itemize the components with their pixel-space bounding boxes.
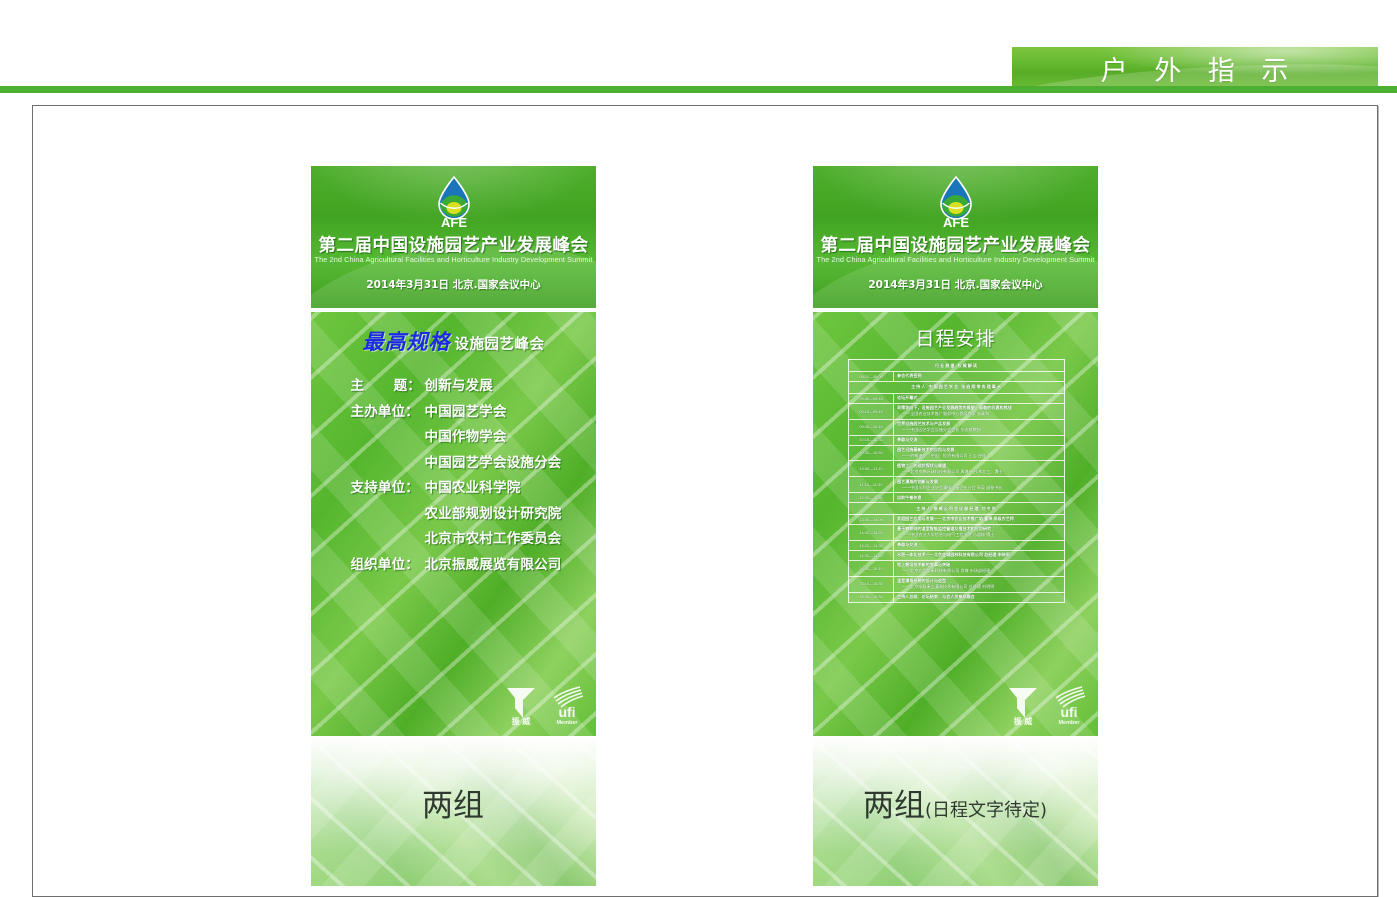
schedule-topic-main: 自助午餐休息 <box>897 495 922 500</box>
schedule-topic-main: 园艺设施最新技术的应用与发展 <box>897 447 954 452</box>
banner-body-right: 日程安排 行业展望 权威解读08:20—09:00参会代表签到主持人 中国园艺学… <box>813 312 1098 736</box>
schedule-topic-main: 基于物联网的温室智能监控管理及植技术和应用研究 <box>897 526 991 531</box>
banner-info-value: 北京市农村工作委员会 <box>425 527 562 547</box>
schedule-topic-main: 主持人总结、论坛结束、与会人员参观展会 <box>897 594 975 599</box>
schedule-topic: 论坛开幕式 <box>894 394 1064 403</box>
banner-subtitle: The 2nd China Agricultural Facilities an… <box>311 255 596 264</box>
schedule-topic-main: 茶歇与交流 <box>897 437 917 442</box>
schedule-topic-main: 行业展望 权威解读 <box>935 363 978 368</box>
schedule-time: 10:30—10:50 <box>849 446 894 461</box>
schedule-row: 10:50—11:10植物工厂的现状探状与展望——北京京鹏环球科技有限公司 周增… <box>849 461 1064 477</box>
caption-right: 两组(日程文字待定) <box>745 780 1165 825</box>
schedule-topic-main: 茶歇与交流 <box>897 542 917 547</box>
schedule-topic-main: 主持人 振威公司会议部经理 刘冬东 <box>916 506 997 511</box>
schedule-topic: 行业展望 权威解读 <box>849 360 1064 371</box>
schedule-topic-speaker: ——中国水利企业协会灌排设备企业分会 周英 副秘书长 <box>897 485 1061 491</box>
banner-date-venue: 2014年3月31日 北京.国家会议中心 <box>813 277 1098 292</box>
schedule-row: 15:30—16:30主持人总结、论坛结束、与会人员参观展会 <box>849 593 1064 603</box>
schedule-time: 09:00—09:15 <box>849 394 894 403</box>
banner-info-row: 农业部规划设计研究院 <box>311 502 596 522</box>
banner-info-label: 主办单位： <box>351 400 425 420</box>
schedule-time: 14:30—14:50 <box>849 551 894 560</box>
slogan-rest-text: 设施园艺峰会 <box>455 337 545 353</box>
banner-title: 第二届中国设施园艺产业发展峰会 <box>813 232 1098 257</box>
afe-logo-icon: AFE <box>936 175 976 231</box>
schedule-time: 08:20—09:00 <box>849 372 894 381</box>
schedule-row: 主持人 振威公司会议部经理 刘冬东 <box>849 503 1064 515</box>
schedule-row: 09:00—09:15论坛开幕式 <box>849 394 1064 404</box>
schedule-time: 10:50—11:10 <box>849 461 894 476</box>
banner-info-value: 中国园艺学会 <box>425 400 507 420</box>
banner-info-row: 主 题：创新与发展 <box>311 374 596 394</box>
schedule-topic-speaker: ——中国园艺学会设施分会会长 张志斌教授 <box>897 427 1061 433</box>
schedule-table: 行业展望 权威解读08:20—09:00参会代表签到主持人 中国园艺学会 张启翔… <box>848 359 1065 603</box>
ufi-logo-icon: ufi Member <box>548 684 586 726</box>
banner-title: 第二届中国设施园艺产业发展峰会 <box>311 232 596 257</box>
schedule-row: 行业展望 权威解读 <box>849 360 1064 372</box>
banner-info-value: 中国农业科学院 <box>425 476 521 496</box>
banner-info-row-inner: 主办单位：中国园艺学会 <box>351 400 557 420</box>
zhenwei-logo-icon: 振 威 <box>1005 684 1041 726</box>
ufi-logo-icon: ufi Member <box>1050 684 1088 726</box>
schedule-time: 10:15—10:30 <box>849 436 894 445</box>
svg-text:AFE: AFE <box>943 215 969 230</box>
schedule-topic: 茶歇与交流 <box>894 541 1064 550</box>
schedule-topic-speaker: ——中国农业大学信息与电气工程学院 马道坤 博士 <box>897 532 1061 538</box>
svg-text:振 威: 振 威 <box>512 716 531 726</box>
svg-text:振 威: 振 威 <box>1014 716 1033 726</box>
schedule-topic-main: 世界设施园艺技术与产品发展 <box>897 421 950 426</box>
schedule-topic: 参会代表签到 <box>894 372 1064 381</box>
schedule-row: 12:00—13:30自助午餐休息 <box>849 493 1064 503</box>
schedule-topic: 主持人 振威公司会议部经理 刘冬东 <box>849 503 1064 514</box>
banner-info-label <box>351 527 425 547</box>
banner-footer-logos: 振 威 ufi Member <box>1005 684 1088 726</box>
schedule-topic: 水肥一体化技术——北京金城园林科技有限公司 总经理 申晓军 <box>894 551 1064 560</box>
schedule-time: 14:50—15:10 <box>849 561 894 576</box>
banner-info-row-inner: 组织单位：北京振威展览有限公司 <box>351 553 557 573</box>
banner-info-list: 主 题：创新与发展主办单位：中国园艺学会中国作物学会中国园艺学会设施分会支持单位… <box>311 374 596 578</box>
schedule-topic: 基于物联网的温室智能监控管理及植技术和应用研究——中国农业大学信息与电气工程学院… <box>894 525 1064 540</box>
banner-info-value: 北京振威展览有限公司 <box>425 553 562 573</box>
banner-info-value: 创新与发展 <box>425 374 494 394</box>
svg-text:Member: Member <box>1058 720 1080 726</box>
banner-info-row-inner: 北京市农村工作委员会 <box>351 527 557 547</box>
schedule-topic: 世界设施园艺技术与产品发展——中国园艺学会设施分会会长 张志斌教授 <box>894 420 1064 435</box>
banner-body-left: 最高规格设施园艺峰会 主 题：创新与发展主办单位：中国园艺学会中国作物学会中国园… <box>311 312 596 736</box>
schedule-topic-main: 政策导向下，设施园艺产业发展趋势的展望、面临的机遇和挑战 <box>897 405 1012 410</box>
caption-right-main: 两组 <box>863 788 925 824</box>
schedule-topic-main: 主持人 中国园艺学会 张启翔常务理事长 <box>911 384 1002 389</box>
zhenwei-logo-icon: 振 威 <box>503 684 539 726</box>
schedule-topic: 园艺设施最新技术的应用与发展——约翰迪尔（中国）投资有限公司 王吉 经理 <box>894 446 1064 461</box>
schedule-topic-main: 园艺灌溉的创新与发展 <box>897 479 938 484</box>
banner-info-row-inner: 中国园艺学会设施分会 <box>351 451 557 471</box>
rollup-banner-right[interactable]: AFE 第二届中国设施园艺产业发展峰会 The 2nd China Agricu… <box>813 166 1098 736</box>
schedule-time: 14:00—14:20 <box>849 525 894 540</box>
banner-info-value: 中国园艺学会设施分会 <box>425 451 562 471</box>
schedule-row: 主持人 中国园艺学会 张启翔常务理事长 <box>849 382 1064 394</box>
banner-info-row-inner: 中国作物学会 <box>351 425 557 445</box>
schedule-row: 14:20—14:30茶歇与交流 <box>849 541 1064 551</box>
schedule-time: 11:10—11:30 <box>849 477 894 492</box>
banner-unit-right[interactable]: AFE 第二届中国设施园艺产业发展峰会 The 2nd China Agricu… <box>813 166 1098 886</box>
schedule-row: 10:15—10:30茶歇与交流 <box>849 436 1064 446</box>
banner-info-value: 中国作物学会 <box>425 425 507 445</box>
schedule-topic-main: 植物工厂的现状探状与展望 <box>897 463 946 468</box>
banner-info-label: 组织单位： <box>351 553 425 573</box>
rollup-banner-left[interactable]: AFE 第二届中国设施园艺产业发展峰会 The 2nd China Agricu… <box>311 166 596 736</box>
caption-left-main: 两组 <box>422 788 484 824</box>
schedule-topic-speaker: ——北京方圆华禾科技有限公司 肖敬 市场部经理 <box>897 568 1061 574</box>
slogan-accent-text: 最高规格 <box>363 330 451 354</box>
banner-info-label <box>351 502 425 522</box>
schedule-time: 15:30—16:30 <box>849 593 894 602</box>
schedule-topic: 园艺灌溉的创新与发展——中国水利企业协会灌排设备企业分会 周英 副秘书长 <box>894 477 1064 492</box>
banner-info-row: 北京市农村工作委员会 <box>311 527 596 547</box>
banner-subtitle: The 2nd China Agricultural Facilities an… <box>813 255 1098 264</box>
svg-text:ufi: ufi <box>558 704 575 720</box>
header-tab-label: 户 外 指 示 <box>1012 47 1378 89</box>
schedule-topic-speaker: ——北京水科禾立灌溉技术有限公司 总经理 刘明明 <box>897 584 1061 590</box>
schedule-row: 14:30—14:50水肥一体化技术——北京金城园林科技有限公司 总经理 申晓军 <box>849 551 1064 561</box>
schedule-topic: 家庭园艺应用与发展——北京市农业技术推广站 董坤 高级农艺师 <box>894 515 1064 524</box>
schedule-topic: 植物工厂的现状探状与展望——北京京鹏环球科技有限公司 周增产 技术总工、博士 <box>894 461 1064 476</box>
banner-footer-logos: 振 威 ufi Member <box>503 684 586 726</box>
banner-info-label <box>351 451 425 471</box>
schedule-topic-main: 水肥一体化技术——北京金城园林科技有限公司 总经理 申晓军 <box>897 552 1010 557</box>
banner-info-row-inner: 农业部规划设计研究院 <box>351 502 557 522</box>
banner-info-label: 主 题： <box>351 374 425 394</box>
svg-text:ufi: ufi <box>1060 704 1077 720</box>
afe-logo-icon: AFE <box>434 175 474 231</box>
banner-date-venue: 2014年3月31日 北京.国家会议中心 <box>311 277 596 292</box>
schedule-time: 13:30—14:00 <box>849 515 894 524</box>
banner-info-label: 支持单位： <box>351 476 425 496</box>
banner-info-row: 支持单位：中国农业科学院 <box>311 476 596 496</box>
schedule-topic-main: 温室灌溉系统的设计与选型 <box>897 578 946 583</box>
schedule-time: 15:10—15:30 <box>849 577 894 592</box>
schedule-row: 08:20—09:00参会代表签到 <box>849 372 1064 382</box>
banner-info-row: 中国园艺学会设施分会 <box>311 451 596 471</box>
schedule-topic: 温室灌溉系统的设计与选型——北京水科禾立灌溉技术有限公司 总经理 刘明明 <box>894 577 1064 592</box>
banner-info-label <box>351 425 425 445</box>
banner-info-value: 农业部规划设计研究院 <box>425 502 562 522</box>
content-frame: AFE 第二届中国设施园艺产业发展峰会 The 2nd China Agricu… <box>32 105 1378 897</box>
schedule-time: 09:15—09:45 <box>849 404 894 419</box>
schedule-row: 14:00—14:20基于物联网的温室智能监控管理及植技术和应用研究——中国农业… <box>849 525 1064 541</box>
caption-right-note: (日程文字待定) <box>925 800 1047 821</box>
banner-info-row: 中国作物学会 <box>311 425 596 445</box>
svg-text:Member: Member <box>556 720 578 726</box>
schedule-time: 14:20—14:30 <box>849 541 894 550</box>
banner-info-row: 主办单位：中国园艺学会 <box>311 400 596 420</box>
banner-unit-left[interactable]: AFE 第二届中国设施园艺产业发展峰会 The 2nd China Agricu… <box>311 166 596 886</box>
schedule-topic: 地上栽培技术新的变革与突破——北京方圆华禾科技有限公司 肖敬 市场部经理 <box>894 561 1064 576</box>
schedule-topic-main: 论坛开幕式 <box>897 395 917 400</box>
banner-header-block: AFE 第二届中国设施园艺产业发展峰会 The 2nd China Agricu… <box>311 166 596 308</box>
schedule-topic: 主持人 中国园艺学会 张启翔常务理事长 <box>849 382 1064 393</box>
schedule-row: 09:15—09:45政策导向下，设施园艺产业发展趋势的展望、面临的机遇和挑战—… <box>849 404 1064 420</box>
schedule-topic-main: 家庭园艺应用与发展——北京市农业技术推广站 董坤 高级农艺师 <box>897 516 1014 521</box>
schedule-topic: 主持人总结、论坛结束、与会人员参观展会 <box>894 593 1064 602</box>
schedule-topic-main: 地上栽培技术新的变革与突破 <box>897 562 950 567</box>
banner-info-row-inner: 主 题：创新与发展 <box>351 374 557 394</box>
schedule-topic: 政策导向下，设施园艺产业发展趋势的展望、面临的机遇和挑战——全国农业技术推广服务… <box>894 404 1064 419</box>
schedule-topic-speaker: ——约翰迪尔（中国）投资有限公司 王吉 经理 <box>897 453 1061 459</box>
schedule-topic-main: 参会代表签到 <box>897 373 922 378</box>
schedule-row: 10:30—10:50园艺设施最新技术的应用与发展——约翰迪尔（中国）投资有限公… <box>849 446 1064 462</box>
banner-info-row: 组织单位：北京振威展览有限公司 <box>311 553 596 573</box>
caption-left: 两组 <box>243 780 663 825</box>
schedule-row: 09:45—10:15世界设施园艺技术与产品发展——中国园艺学会设施分会会长 张… <box>849 420 1064 436</box>
schedule-topic-speaker: ——全国农业技术推广服务中心首席专家 张真和 <box>897 411 1061 417</box>
banner-info-row-inner: 支持单位：中国农业科学院 <box>351 476 557 496</box>
schedule-topic-speaker: ——北京京鹏环球科技有限公司 周增产 技术总工、博士 <box>897 469 1061 475</box>
schedule-time: 12:00—13:30 <box>849 493 894 502</box>
schedule-title: 日程安排 <box>813 324 1098 351</box>
svg-text:AFE: AFE <box>441 215 467 230</box>
schedule-row: 15:10—15:30温室灌溉系统的设计与选型——北京水科禾立灌溉技术有限公司 … <box>849 577 1064 593</box>
schedule-topic: 茶歇与交流 <box>894 436 1064 445</box>
header-tab: 户 外 指 示 <box>1012 47 1378 89</box>
schedule-row: 14:50—15:10地上栽培技术新的变革与突破——北京方圆华禾科技有限公司 肖… <box>849 561 1064 577</box>
schedule-topic: 自助午餐休息 <box>894 493 1064 502</box>
banner-slogan: 最高规格设施园艺峰会 <box>311 326 596 356</box>
header-divider-rule-end <box>1386 86 1397 93</box>
schedule-row: 11:10—11:30园艺灌溉的创新与发展——中国水利企业协会灌排设备企业分会 … <box>849 477 1064 493</box>
schedule-time: 09:45—10:15 <box>849 420 894 435</box>
schedule-row: 13:30—14:00家庭园艺应用与发展——北京市农业技术推广站 董坤 高级农艺… <box>849 515 1064 525</box>
banner-header-block: AFE 第二届中国设施园艺产业发展峰会 The 2nd China Agricu… <box>813 166 1098 308</box>
